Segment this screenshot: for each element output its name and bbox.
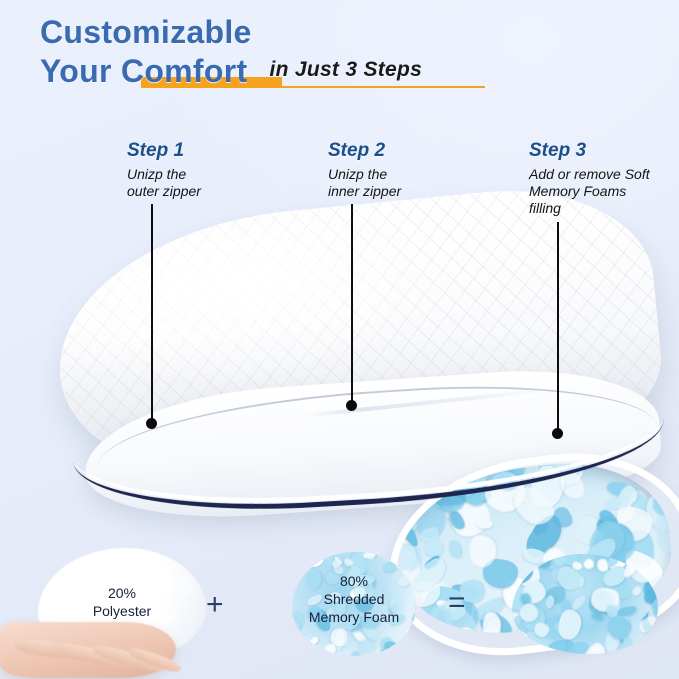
headline-line-2: Your Comfort: [40, 53, 247, 90]
headline-subtitle: in Just 3 Steps: [269, 51, 422, 90]
step-2-title: Step 2: [328, 140, 401, 162]
step-1-title: Step 1: [127, 140, 201, 162]
step-2-leader-dot: [346, 400, 357, 411]
foam-chip: [652, 490, 677, 517]
step-3-leader-line: [557, 222, 559, 432]
foam-chip: [298, 552, 327, 570]
polyester-material: Polyester: [52, 602, 192, 620]
headline-underline: [144, 86, 485, 88]
step-3-desc-line-1: Add or remove Soft: [529, 166, 650, 183]
hand-illustration: [0, 622, 176, 678]
foam-type: Shredded: [286, 590, 422, 608]
foam-chip: [308, 635, 320, 646]
step-3-leader-dot: [552, 428, 563, 439]
foam-chip: [292, 655, 304, 656]
plus-operator: +: [206, 590, 224, 620]
step-1-leader-dot: [146, 418, 157, 429]
pillow-illustration: [0, 185, 679, 525]
headline-line-1: Customizable: [40, 14, 422, 51]
foam-chip: [404, 625, 416, 640]
step-1-desc-line-2: outer zipper: [127, 183, 201, 200]
step-2-desc-line-2: inner zipper: [328, 183, 401, 200]
step-3-desc-line-2: Memory Foams: [529, 183, 650, 200]
equals-operator: =: [448, 588, 466, 618]
memory-foam-label: 80% Shredded Memory Foam: [286, 572, 422, 626]
callout-step-1: Step 1 Unizp the outer zipper: [127, 140, 201, 200]
step-3-desc-line-3: filling: [529, 200, 650, 217]
foam-chip: [558, 609, 583, 641]
step-3-title: Step 3: [529, 140, 650, 162]
headline-block: Customizable Your Comfort in Just 3 Step…: [40, 14, 422, 90]
foam-chip: [367, 552, 376, 560]
step-1-desc-line-1: Unizp the: [127, 166, 201, 183]
headline-line-2-row: Your Comfort in Just 3 Steps: [40, 51, 422, 90]
foam-chip: [631, 585, 644, 598]
polyester-label: 20% Polyester: [52, 584, 192, 620]
foam-chip: [476, 520, 493, 529]
composition-equation: 20% Polyester + 80% Shredded Memory Foam…: [0, 540, 679, 679]
product-infographic: Customizable Your Comfort in Just 3 Step…: [0, 0, 679, 679]
callout-step-3: Step 3 Add or remove Soft Memory Foams f…: [529, 140, 650, 217]
step-2-leader-line: [351, 204, 353, 404]
callout-step-2: Step 2 Unizp the inner zipper: [328, 140, 401, 200]
step-2-desc-line-1: Unizp the: [328, 166, 401, 183]
step-1-leader-line: [151, 204, 153, 422]
foam-percent: 80%: [286, 572, 422, 590]
polyester-percent: 20%: [52, 584, 192, 602]
result-foam-mound: [512, 554, 658, 654]
foam-material: Memory Foam: [286, 608, 422, 626]
foam-chip: [292, 552, 303, 569]
